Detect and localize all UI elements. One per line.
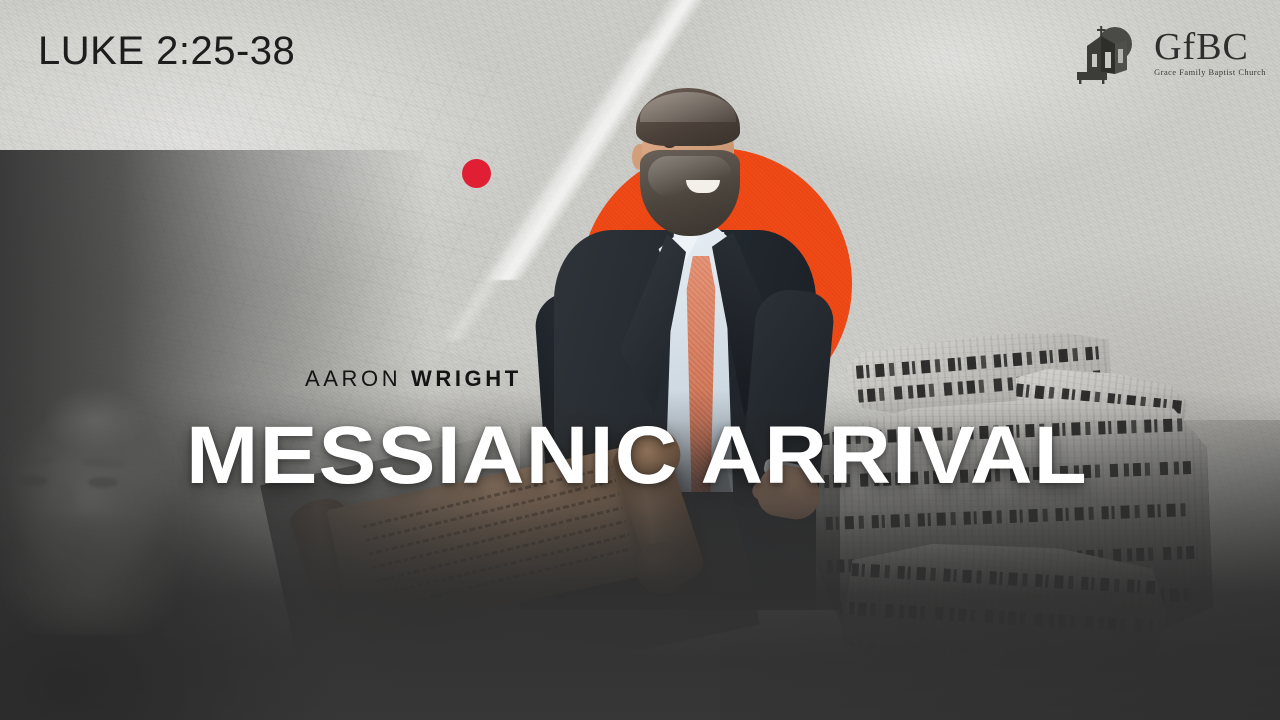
- church-building-icon: [1071, 22, 1145, 84]
- logo-tagline: Grace Family Baptist Church: [1154, 69, 1266, 77]
- speaker-last-name: WRIGHT: [411, 366, 522, 391]
- ghost-face-brow-left: [10, 455, 57, 467]
- church-logo: GfBC Grace Family Baptist Church: [1071, 22, 1266, 84]
- ghost-face-nose: [54, 485, 76, 519]
- speaker-name: AARON WRIGHT: [305, 366, 522, 392]
- logo-initials: GfBC: [1154, 28, 1249, 66]
- ghost-face-beard: [0, 515, 160, 625]
- logo-text-block: GfBC Grace Family Baptist Church: [1154, 28, 1266, 77]
- red-dot-accent: [462, 159, 491, 188]
- scripture-reference: LUKE 2:25-38: [38, 29, 295, 74]
- sermon-title-slide: LUKE 2:25-38 AARON WRIGHT MESSIANIC ARRI…: [0, 0, 1280, 720]
- ghost-face-eye-right: [88, 477, 118, 488]
- ghost-face-brow-right: [80, 457, 126, 468]
- speaker-first-name: AARON: [305, 366, 401, 391]
- ghost-face-eye-left: [18, 475, 48, 486]
- sermon-title: MESSIANIC ARRIVAL: [186, 415, 1088, 497]
